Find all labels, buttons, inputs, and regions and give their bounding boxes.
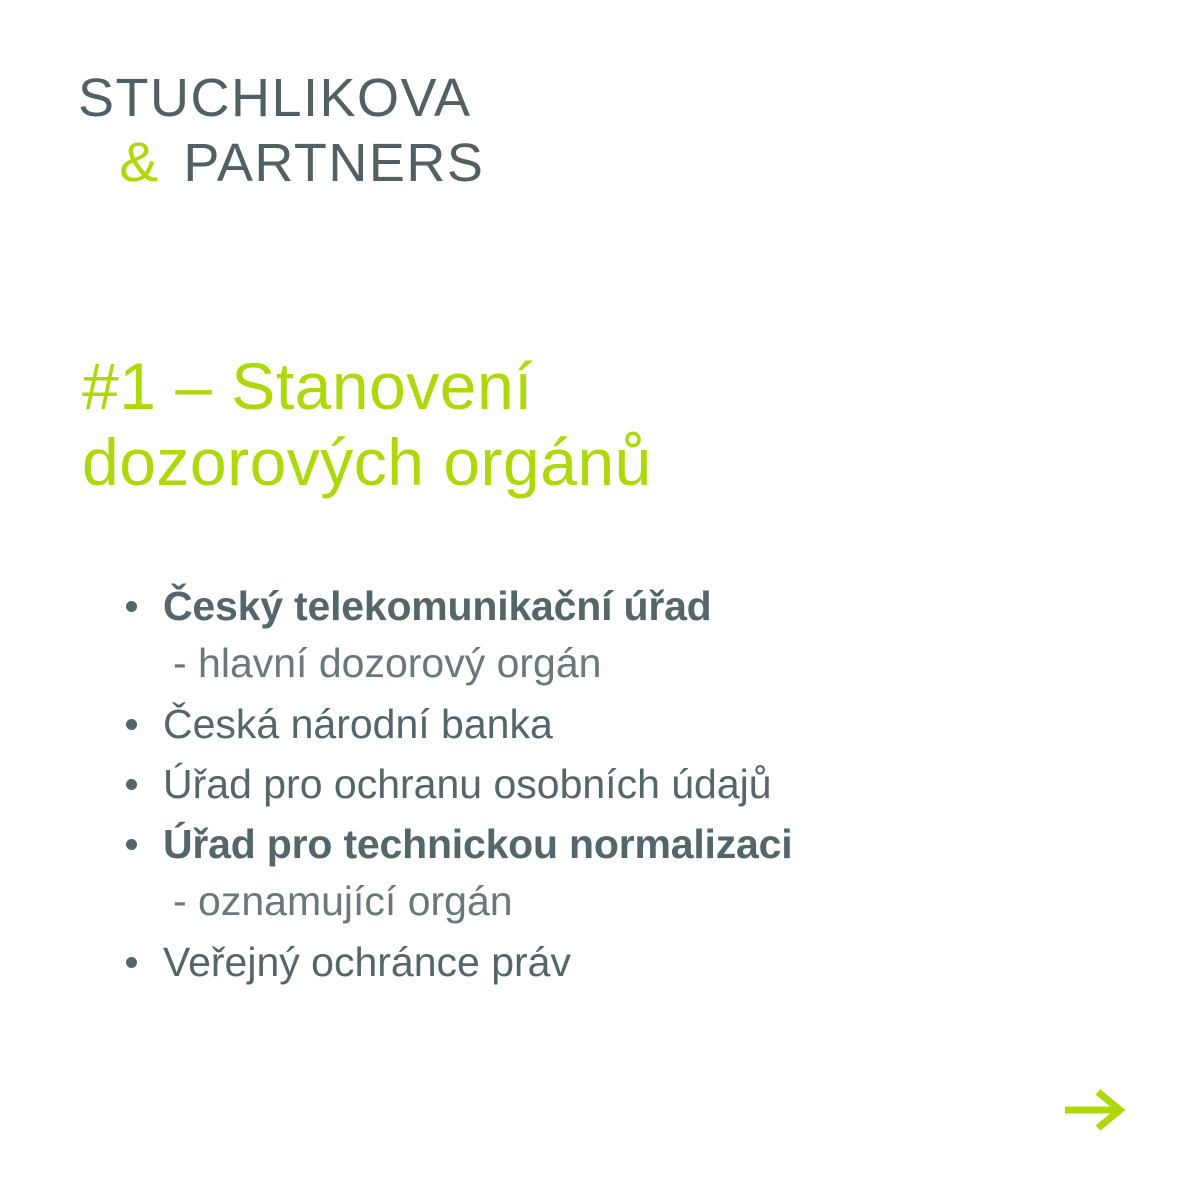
slide-canvas: STUCHLIKOVA &PARTNERS #1 – Stanovení doz… [0, 0, 1200, 1200]
brand-logo-partners-word: PARTNERS [183, 133, 484, 193]
list-item: Český telekomunikační úřad - hlavní dozo… [120, 578, 1120, 692]
brand-logo-line-1: STUCHLIKOVA [78, 66, 778, 130]
list-item-note: - oznamující orgán [163, 872, 1120, 930]
list-item: Česká národní banka [120, 696, 1120, 752]
arrow-right-icon[interactable] [1062, 1086, 1126, 1134]
page-title-line-2: dozorových orgánů [82, 424, 1042, 500]
list-item-label: Veřejný ochránce práv [163, 934, 1120, 990]
page-title: #1 – Stanovení dozorových orgánů [82, 348, 1042, 500]
list-item-label: Úřad pro ochranu osobních údajů [163, 756, 1120, 812]
list-item: Úřad pro ochranu osobních údajů [120, 756, 1120, 812]
supervisory-bodies-list: Český telekomunikační úřad - hlavní dozo… [120, 578, 1120, 994]
brand-logo-line-2: &PARTNERS [78, 130, 778, 195]
brand-logo: STUCHLIKOVA &PARTNERS [78, 66, 778, 195]
list-item-label: Český telekomunikační úřad [163, 578, 1120, 634]
list-item-label: Česká národní banka [163, 696, 1120, 752]
list-item-note: - hlavní dozorový orgán [163, 634, 1120, 692]
list-item: Úřad pro technickou normalizaci - oznamu… [120, 816, 1120, 930]
list-item-label: Úřad pro technickou normalizaci [163, 816, 1120, 872]
page-title-line-1: #1 – Stanovení [82, 348, 1042, 424]
ampersand-glyph: & [119, 130, 158, 194]
list-item: Veřejný ochránce práv [120, 934, 1120, 990]
